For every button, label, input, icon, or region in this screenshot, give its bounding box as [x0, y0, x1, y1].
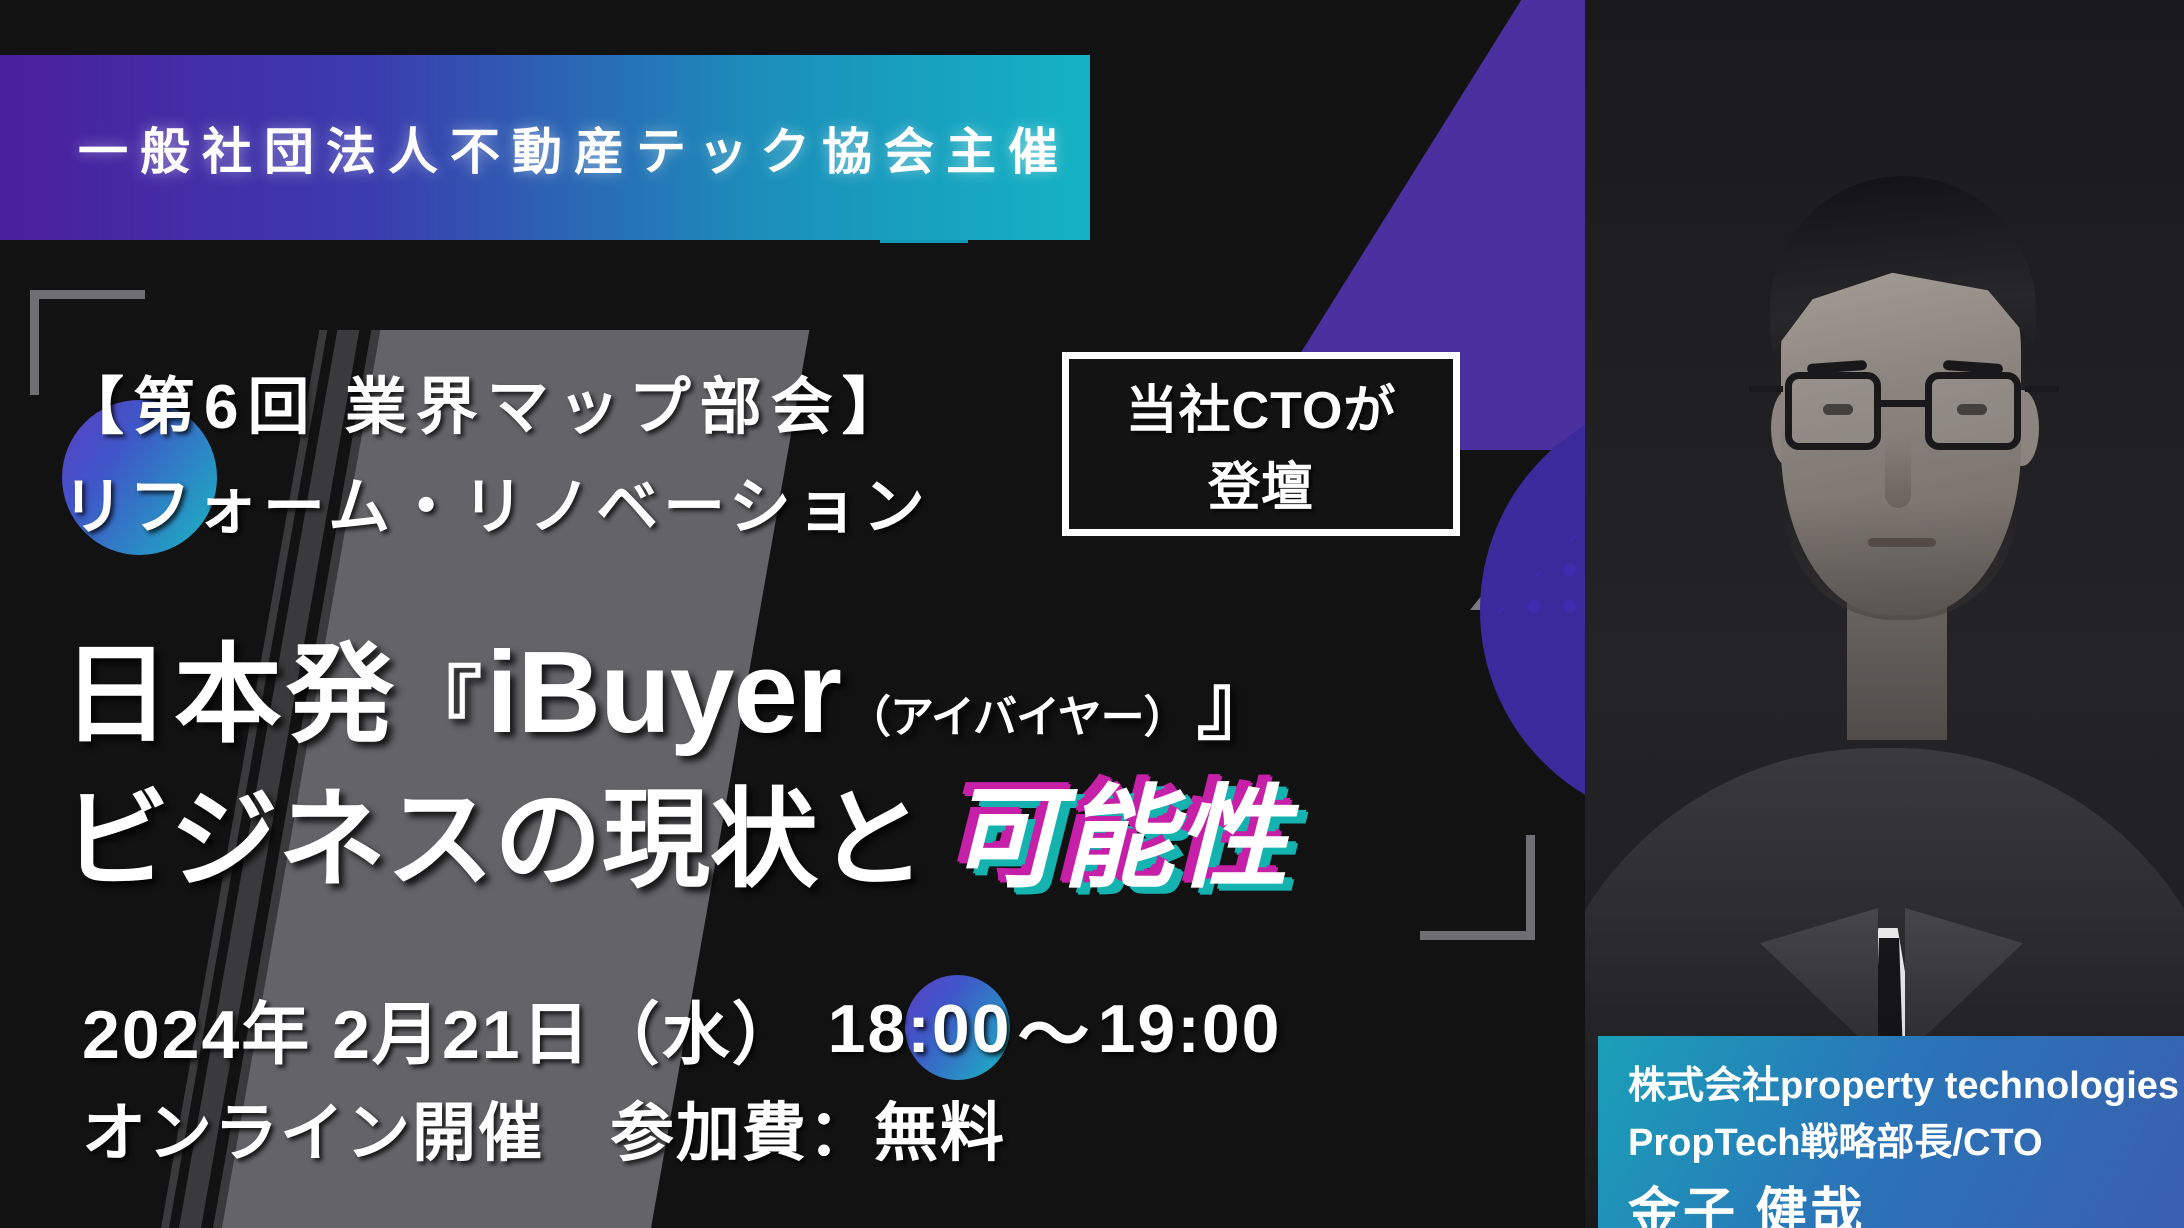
event-end-time: 19:00: [1098, 990, 1282, 1068]
event-format-and-fee: オンライン開催 参加費：無料: [82, 1082, 1006, 1174]
portrait-eyeglasses: [1781, 372, 2027, 456]
speaker-name: 金子 健哉: [1628, 1170, 2184, 1228]
headline-line-1: 日本発 『 iBuyer （アイバイヤー） 』: [62, 608, 1281, 764]
cto-speaker-badge: 当社CTOが 登壇: [1062, 352, 1460, 536]
glasses-lens-left: [1785, 372, 1881, 450]
glasses-temple-right: [2025, 386, 2059, 392]
glasses-lens-right: [1925, 372, 2021, 450]
cto-badge-line-2: 登壇: [1208, 445, 1314, 520]
event-schedule-row: 2024年 2月21日（水） 18:00 〜 19:00: [82, 976, 1281, 1081]
headline-english-word: iBuyer: [486, 625, 841, 759]
glasses-temple-left: [1749, 386, 1783, 392]
headline-line-2: ビジネスの現状と 可能性: [62, 748, 1290, 910]
time-range-tilde: 〜: [1012, 976, 1098, 1081]
headline-close-bracket: 』: [1193, 640, 1281, 756]
headline-accent-word: 可能性: [948, 748, 1290, 910]
headline-jp-prefix: 日本発: [62, 608, 398, 764]
cto-badge-line-1: 当社CTOが: [1126, 368, 1397, 443]
headline-line2-plain: ビジネスの現状と: [62, 753, 926, 909]
speaker-company: 株式会社property technologies: [1628, 1054, 2184, 1109]
event-date: 2024年 2月21日（水）: [82, 979, 802, 1078]
headline-ruby-reading: （アイバイヤー）: [841, 681, 1193, 745]
subtitle-line-2: リフォーム・リノベーション: [62, 456, 930, 546]
headline-open-bracket: 『: [398, 640, 486, 756]
speaker-info-plate: 株式会社property technologies PropTech戦略部長/C…: [1598, 1036, 2184, 1228]
speaker-role: PropTech戦略部長/CTO: [1628, 1111, 2184, 1166]
portrait-mouth: [1868, 538, 1936, 547]
event-banner: 一般社団法人不動産テック協会主催 【第6回 業界マップ部会】 リフォーム・リノベ…: [0, 0, 2184, 1228]
event-start-time: 18:00: [828, 990, 1012, 1068]
subtitle-line-1: 【第6回 業界マップ部会】: [62, 356, 913, 446]
glasses-bridge: [1881, 400, 1929, 407]
